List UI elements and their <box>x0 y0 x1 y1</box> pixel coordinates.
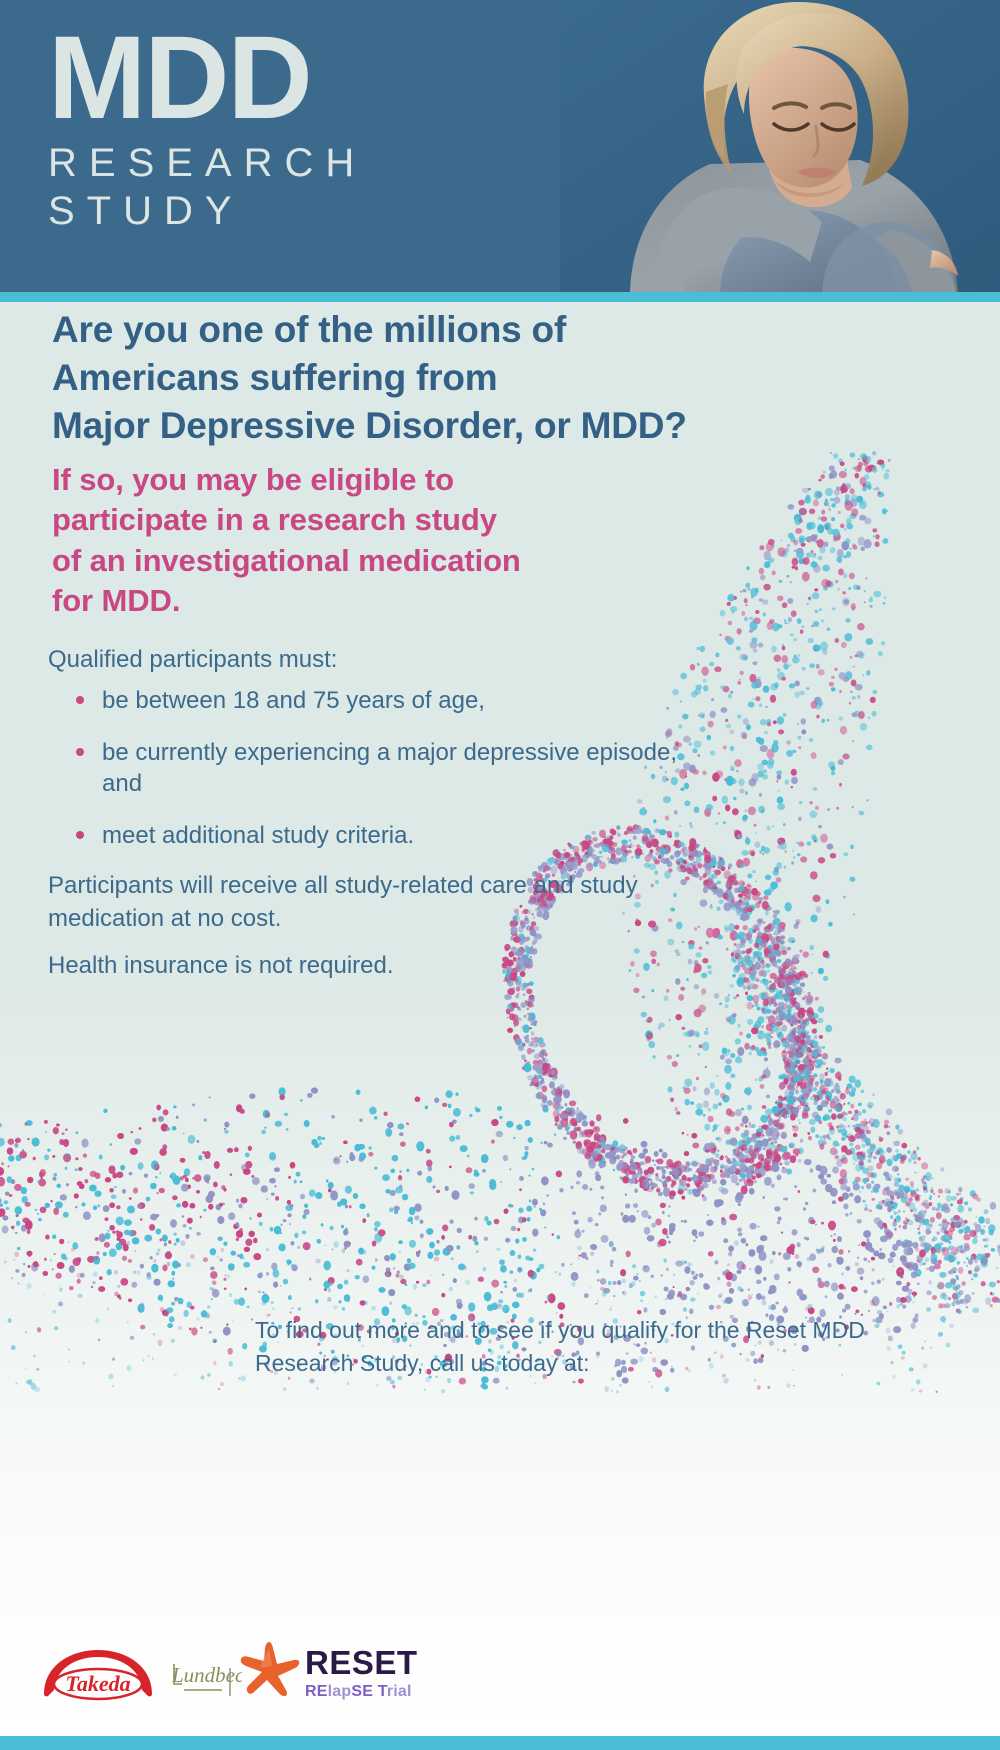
reset-tagline-part-3: SE <box>351 1683 373 1700</box>
list-item-label: meet additional study criteria. <box>102 822 414 849</box>
list-item: be currently experiencing a major depres… <box>48 737 688 800</box>
headline-line-1: Are you one of the millions of <box>52 306 852 354</box>
reset-tagline-part-5: rial <box>387 1683 412 1700</box>
brand-title-mdd: MDD <box>48 18 366 138</box>
reset-tagline-part-1: RE <box>305 1683 328 1700</box>
qualified-participants-label: Qualified participants must: <box>48 644 668 676</box>
reset-wordmark: RESET <box>305 1646 418 1679</box>
list-item-label: be currently experiencing a major depres… <box>102 739 677 798</box>
lundbeck-logo: Lundbeck <box>170 1654 242 1703</box>
list-item: be between 18 and 75 years of age, <box>48 685 688 717</box>
poster-header: MDD RESEARCH STUDY <box>0 0 1000 292</box>
reset-logo: RESET RElapSE Trial <box>305 1646 418 1700</box>
bullet-dot-icon <box>76 696 84 704</box>
insurance-paragraph: Health insurance is not required. <box>48 950 688 983</box>
call-to-action-text: To find out more and to see if you quali… <box>255 1314 875 1379</box>
list-item: meet additional study criteria. <box>48 820 688 852</box>
brand-block: MDD RESEARCH STUDY <box>48 18 366 235</box>
subhead-line-1: If so, you may be eligible to <box>52 460 672 500</box>
list-item-label: be between 18 and 75 years of age, <box>102 687 485 714</box>
headline-line-3: Major Depressive Disorder, or MDD? <box>52 402 852 450</box>
divider-top <box>0 292 1000 302</box>
reset-tagline: RElapSE Trial <box>305 1684 418 1700</box>
brand-subtitle-research: RESEARCH <box>48 140 366 187</box>
page-subhead: If so, you may be eligible to participat… <box>52 460 672 621</box>
divider-bottom <box>0 1736 1000 1750</box>
subhead-line-2: participate in a research study <box>52 500 672 540</box>
eligibility-list: be between 18 and 75 years of age, be cu… <box>48 685 688 872</box>
study-cost-paragraph: Participants will receive all study-rela… <box>48 870 688 935</box>
header-photo <box>560 0 1000 292</box>
reset-tagline-part-4: T <box>373 1683 387 1700</box>
footer-logos: Takeda Lundbeck RESET RElapSE Trial <box>0 1640 1000 1730</box>
brand-subtitle-study: STUDY <box>48 188 366 235</box>
headline-line-2: Americans suffering from <box>52 354 852 402</box>
subhead-line-3: of an investigational medication <box>52 541 672 581</box>
subhead-line-4: for MDD. <box>52 581 672 621</box>
poster-body: Are you one of the millions of Americans… <box>0 302 1000 1736</box>
reset-tagline-part-2: lap <box>328 1683 352 1700</box>
poster: MDD RESEARCH STUDY Are you one of the mi… <box>0 0 1000 1750</box>
page-headline: Are you one of the millions of Americans… <box>52 306 852 450</box>
bullet-dot-icon <box>76 748 84 756</box>
starfish-logo <box>238 1640 300 1705</box>
takeda-logo: Takeda <box>38 1644 158 1707</box>
bullet-dot-icon <box>76 831 84 839</box>
